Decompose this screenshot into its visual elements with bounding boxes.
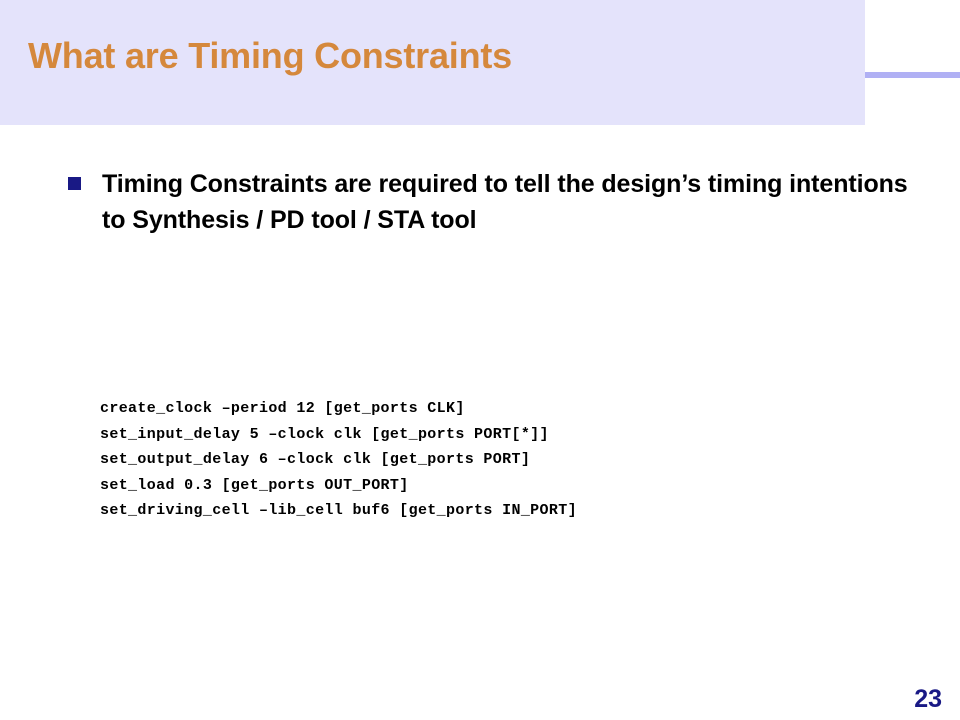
bullet-list: Timing Constraints are required to tell … [66, 166, 916, 238]
slide-canvas: What are Timing Constraints Timing Const… [0, 0, 960, 720]
bullet-item-text: Timing Constraints are required to tell … [102, 170, 908, 234]
code-line: set_input_delay 5 –clock clk [get_ports … [100, 422, 900, 448]
square-bullet-icon [68, 177, 81, 190]
title-accent-bar [865, 72, 960, 78]
code-line: set_driving_cell –lib_cell buf6 [get_por… [100, 498, 900, 524]
list-item: Timing Constraints are required to tell … [66, 166, 916, 238]
code-line: create_clock –period 12 [get_ports CLK] [100, 396, 900, 422]
code-snippet-block: create_clock –period 12 [get_ports CLK] … [100, 396, 900, 524]
code-line: set_load 0.3 [get_ports OUT_PORT] [100, 473, 900, 499]
code-line: set_output_delay 6 –clock clk [get_ports… [100, 447, 900, 473]
page-number: 23 [914, 684, 942, 714]
page-title: What are Timing Constraints [28, 34, 848, 78]
